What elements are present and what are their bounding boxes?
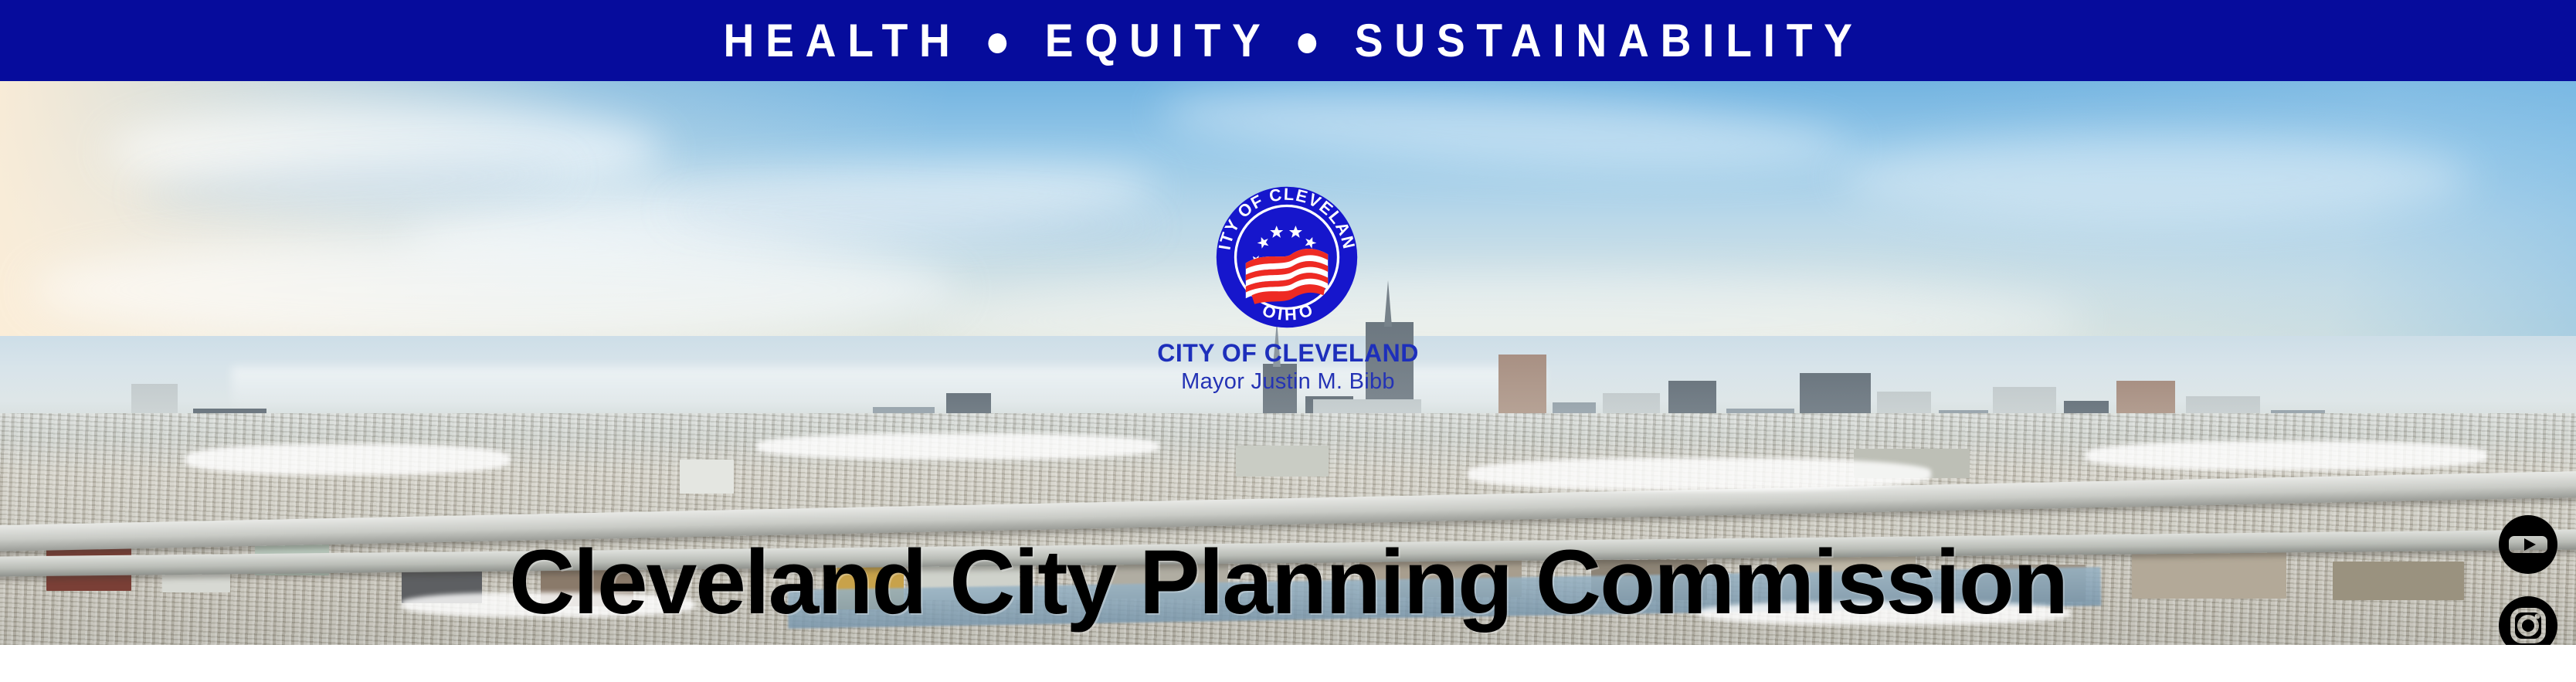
banner-tagline: HEALTH ● EQUITY ● SUSTAINABILITY xyxy=(712,18,1864,64)
instagram-icon xyxy=(2497,595,2559,645)
bottom-white-strip xyxy=(0,645,2576,682)
page-root: HEALTH ● EQUITY ● SUSTAINABILITY xyxy=(0,0,2576,682)
city-seal: CITY OF CLEVELAND OHIO xyxy=(1213,184,1360,331)
top-banner: HEALTH ● EQUITY ● SUSTAINABILITY xyxy=(0,0,2576,81)
organization-name: CITY OF CLEVELAND xyxy=(0,340,2576,367)
youtube-link[interactable] xyxy=(2497,514,2559,575)
mayor-name: Mayor Justin M. Bibb xyxy=(0,369,2576,395)
youtube-icon xyxy=(2497,514,2559,575)
social-links xyxy=(2497,514,2564,645)
hero-photo: CITY OF CLEVELAND OHIO xyxy=(0,81,2576,645)
cloud xyxy=(1838,135,2472,220)
page-title: Cleveland City Planning Commission xyxy=(0,537,2576,628)
instagram-link[interactable] xyxy=(2497,595,2559,645)
city-of-cleveland-seal-icon: CITY OF CLEVELAND OHIO xyxy=(1213,184,1360,331)
